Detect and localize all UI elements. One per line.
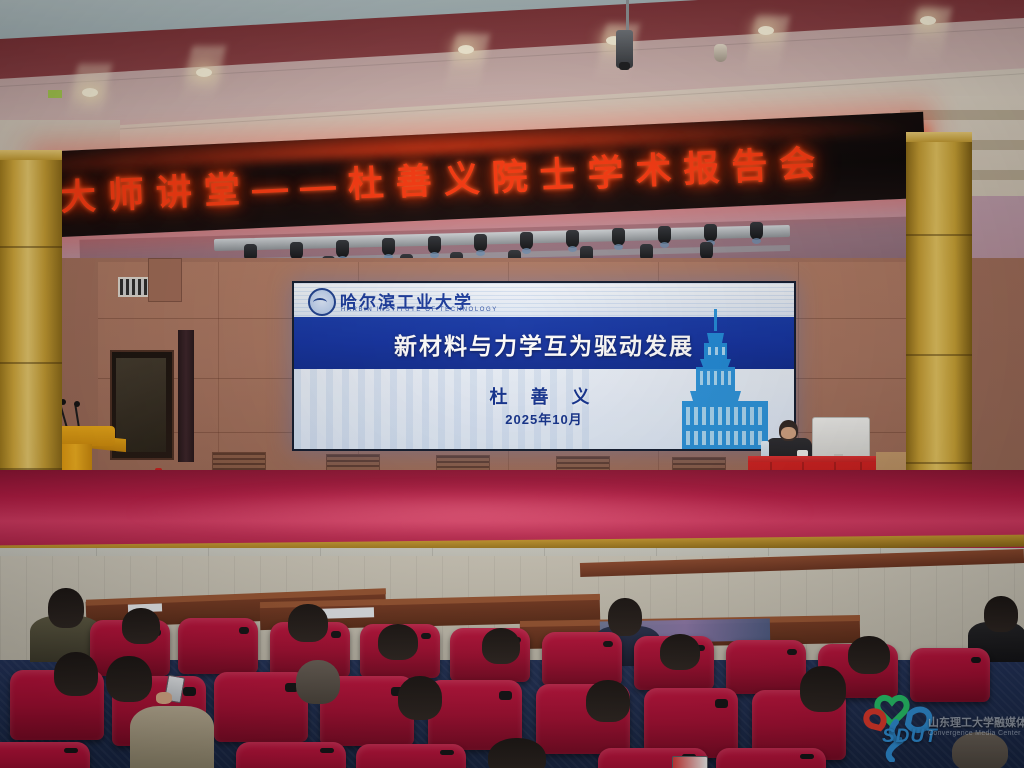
audience-head [660,634,700,670]
smartphone-icon [672,756,708,768]
recessed-downlight-icon [196,68,212,77]
recessed-downlight-icon [758,26,774,35]
stage-spotlight-icon [566,230,579,248]
auditorium-photo: 大师讲堂——杜善义院士学术报告会 [0,0,1024,768]
audience-head [378,624,418,660]
audience-head [48,588,84,628]
presentation-slide: 哈尔滨工业大学 HARBIN INSTITUTE OF TECHNOLOGY 新… [294,283,794,449]
hit-university-logo [308,288,336,316]
desktop-monitor-icon [812,417,870,459]
stage-spotlight-icon [336,240,349,258]
stage-spotlight-icon [428,236,441,254]
recessed-downlight-icon [82,88,98,97]
audience-head [288,604,328,642]
paper-on-desk [322,607,374,618]
audience-seat [356,744,466,768]
stage-spotlight-icon [750,222,763,240]
stage-spotlight-icon [704,224,717,242]
stage-curtain [178,330,194,462]
audience-hand [156,692,172,704]
audience-head [54,652,98,696]
audience-head [984,596,1018,632]
audience-seat [236,742,346,768]
stage-spotlight-icon [382,238,395,256]
audience-seat [178,618,258,674]
speaker-face [781,427,796,439]
recessed-downlight-icon [458,45,474,54]
ceiling-loudspeaker-icon [714,44,727,62]
audience-head [608,598,642,636]
audience-seat [0,742,90,768]
exit-sign [48,90,62,98]
audience-seat [726,640,806,694]
stage-spotlight-icon [612,228,625,246]
slide-university-name-en: HARBIN INSTITUTE OF TECHNOLOGY [341,307,498,313]
microphone-capsule [74,401,80,407]
audience-head [296,660,340,704]
stage-light-pool [120,486,820,538]
stage-spotlight-icon [474,234,487,252]
stage-spotlight-icon [520,232,533,250]
recessed-downlight-icon [920,16,936,25]
audience-person [130,706,214,768]
wall-access-hatch [148,258,182,302]
audience-head [398,676,442,720]
audience-head [586,680,630,722]
watermark-name-en: Convergence Media Center [928,730,1021,737]
audience-head [482,628,520,664]
stage-spotlight-icon [658,226,671,244]
audience-head [106,656,152,702]
watermark-name-cn: 山东理工大学融媒体中心 [928,714,1024,730]
projector-lens [619,62,630,70]
audience-head [122,608,160,644]
audience-seat [716,748,826,768]
audience-seat [214,672,308,742]
audience-seat [542,632,622,686]
audience-head [848,636,890,674]
hit-main-building-illustration [660,307,790,449]
audience-head [800,666,846,712]
audience-head [488,738,546,768]
projection-screen: 哈尔滨工业大学 HARBIN INSTITUTE OF TECHNOLOGY 新… [292,281,796,451]
media-center-watermark: SDUT 山东理工大学融媒体中心 Convergence Media Cente… [862,682,1022,766]
projector-mount-rod [626,0,629,34]
